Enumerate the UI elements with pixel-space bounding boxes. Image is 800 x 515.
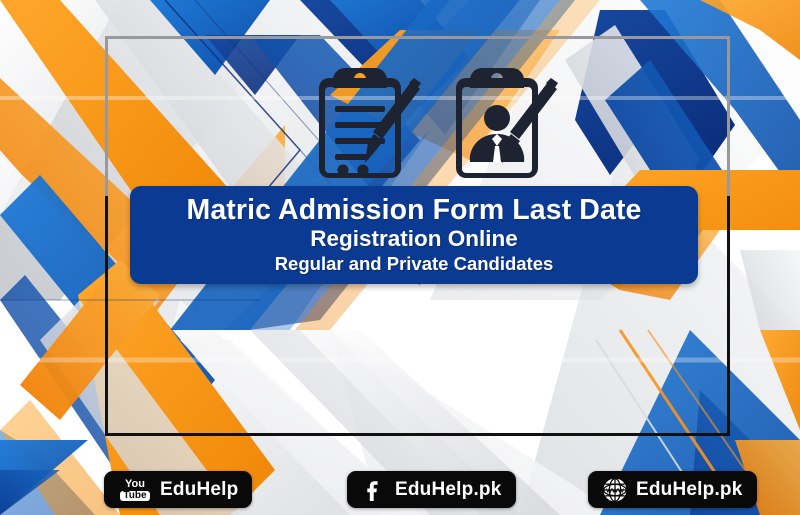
- youtube-icon: You Tube: [118, 479, 152, 501]
- facebook-badge[interactable]: EduHelp.pk: [347, 471, 516, 508]
- social-badges-row: You Tube EduHelp EduHelp.pk: [0, 470, 800, 512]
- header-icons: [315, 62, 560, 182]
- poster-canvas: Matric Admission Form Last Date Registra…: [0, 0, 800, 515]
- title-line-2: Registration Online: [310, 226, 518, 251]
- website-badge[interactable]: www EduHelp.pk: [588, 471, 757, 508]
- title-line-1: Matric Admission Form Last Date: [187, 196, 642, 226]
- clipboard-lines-pen-icon: [315, 62, 423, 182]
- facebook-icon: [361, 477, 387, 503]
- youtube-badge[interactable]: You Tube EduHelp: [104, 471, 252, 508]
- title-line-3: Regular and Private Candidates: [275, 254, 554, 275]
- youtube-badge-label: EduHelp: [160, 479, 238, 501]
- youtube-icon-bottom: Tube: [120, 491, 149, 501]
- globe-www-icon: www: [602, 477, 628, 503]
- website-badge-label: EduHelp.pk: [636, 479, 743, 501]
- svg-text:www: www: [605, 485, 624, 494]
- facebook-badge-label: EduHelp.pk: [395, 479, 502, 501]
- clipboard-person-pen-icon: [452, 62, 560, 182]
- youtube-icon-top: You: [125, 479, 145, 490]
- title-banner: Matric Admission Form Last Date Registra…: [130, 186, 698, 284]
